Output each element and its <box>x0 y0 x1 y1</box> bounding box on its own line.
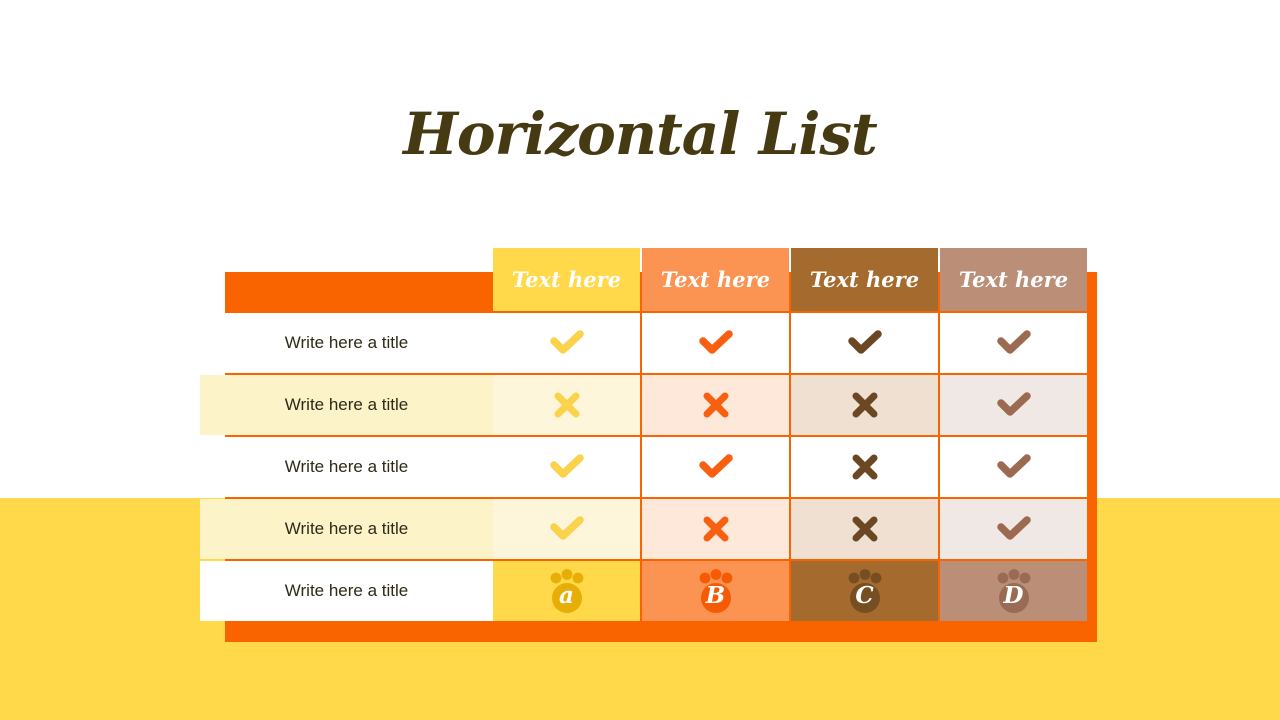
row-label: Write here a title <box>285 519 408 539</box>
table-cell[interactable] <box>493 375 640 435</box>
table-header-cell-1[interactable]: Text here <box>493 248 640 311</box>
table-cell[interactable] <box>642 313 789 373</box>
table-footer-cell-1[interactable]: a <box>493 561 640 621</box>
table-row[interactable]: Write here a title <box>200 437 1087 497</box>
row-label: Write here a title <box>285 457 408 477</box>
horizontal-list-table: Text hereText hereText hereText hereWrit… <box>200 248 1087 621</box>
table-cell[interactable] <box>791 375 938 435</box>
table-header-cell-4[interactable]: Text here <box>940 248 1087 311</box>
cross-icon <box>702 515 730 543</box>
row-label-cell: Write here a title <box>200 437 493 497</box>
footer-label-cell: Write here a title <box>200 561 493 621</box>
cross-icon <box>702 391 730 419</box>
table-row[interactable]: Write here a title <box>200 375 1087 435</box>
table-footer-row[interactable]: Write here a titleaBCD <box>200 561 1087 621</box>
table-footer-cell-2[interactable]: B <box>642 561 789 621</box>
table-header-label: Text here <box>810 267 919 292</box>
check-icon <box>997 330 1031 356</box>
table-cell[interactable] <box>642 499 789 559</box>
table-cell[interactable] <box>493 313 640 373</box>
table-cell[interactable] <box>940 375 1087 435</box>
row-label-cell: Write here a title <box>200 499 493 559</box>
table-row[interactable]: Write here a title <box>200 499 1087 559</box>
table-header-label: Text here <box>661 267 770 292</box>
cross-icon <box>851 515 879 543</box>
table-header-label: Text here <box>512 267 621 292</box>
paw-letter: a <box>541 567 593 615</box>
paw-print-icon: a <box>541 567 593 615</box>
cross-icon <box>851 453 879 481</box>
row-label-cell: Write here a title <box>200 313 493 373</box>
paw-print-icon: C <box>839 567 891 615</box>
footer-label: Write here a title <box>285 581 408 601</box>
check-icon <box>997 454 1031 480</box>
table-cell[interactable] <box>791 437 938 497</box>
table-cell[interactable] <box>940 499 1087 559</box>
table-header-cell-2[interactable]: Text here <box>642 248 789 311</box>
table-header-cell-3[interactable]: Text here <box>791 248 938 311</box>
cross-icon <box>851 391 879 419</box>
table-cell[interactable] <box>791 499 938 559</box>
check-icon <box>997 392 1031 418</box>
slide-canvas: Horizontal List Text hereText hereText h… <box>0 0 1280 720</box>
table-cell[interactable] <box>791 313 938 373</box>
check-icon <box>550 330 584 356</box>
table-cell[interactable] <box>940 313 1087 373</box>
paw-letter: B <box>690 567 742 615</box>
row-label: Write here a title <box>285 395 408 415</box>
table-cell[interactable] <box>642 375 789 435</box>
table-row[interactable]: Write here a title <box>200 313 1087 373</box>
paw-letter: C <box>839 567 891 615</box>
page-title: Horizontal List <box>0 100 1280 168</box>
check-icon <box>699 454 733 480</box>
check-icon <box>699 330 733 356</box>
check-icon <box>550 516 584 542</box>
paw-print-icon: B <box>690 567 742 615</box>
row-label-cell: Write here a title <box>200 375 493 435</box>
paw-letter: D <box>988 567 1040 615</box>
header-label-spacer <box>200 248 493 311</box>
row-label: Write here a title <box>285 333 408 353</box>
table-header-label: Text here <box>959 267 1068 292</box>
check-icon <box>848 330 882 356</box>
table-cell[interactable] <box>642 437 789 497</box>
cross-icon <box>553 391 581 419</box>
check-icon <box>997 516 1031 542</box>
table-footer-cell-4[interactable]: D <box>940 561 1087 621</box>
table-cell[interactable] <box>940 437 1087 497</box>
paw-print-icon: D <box>988 567 1040 615</box>
table-cell[interactable] <box>493 499 640 559</box>
table-header-row: Text hereText hereText hereText here <box>200 248 1087 311</box>
table-footer-cell-3[interactable]: C <box>791 561 938 621</box>
table-cell[interactable] <box>493 437 640 497</box>
check-icon <box>550 454 584 480</box>
